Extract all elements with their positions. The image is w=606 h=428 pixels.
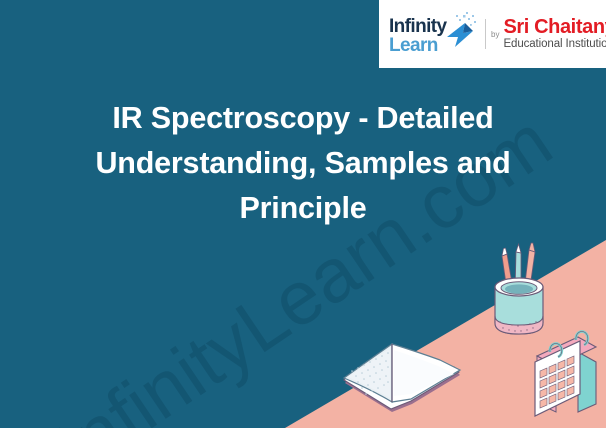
- infinity-text: Infinity: [389, 17, 446, 36]
- brand-subtitle: Educational Institutions: [503, 38, 606, 52]
- infinity-arrow-icon: [439, 11, 483, 55]
- page-title: IR Spectroscopy - Detailed Understanding…: [40, 96, 566, 231]
- article-cover-card: InfinityLearn.com Infinity Learn: [0, 0, 606, 428]
- sri-chaitanya-logo: Sri Chaitanya Educational Institutions: [503, 17, 606, 52]
- logo-divider: [485, 19, 486, 49]
- brand-name: Sri Chaitanya: [503, 17, 606, 38]
- brand-logo-box: Infinity Learn by Sri Chaitan: [379, 0, 606, 68]
- infinity-learn-logo: Infinity Learn: [387, 7, 483, 61]
- learn-text: Learn: [389, 36, 438, 55]
- logo-by-text: by: [491, 30, 499, 39]
